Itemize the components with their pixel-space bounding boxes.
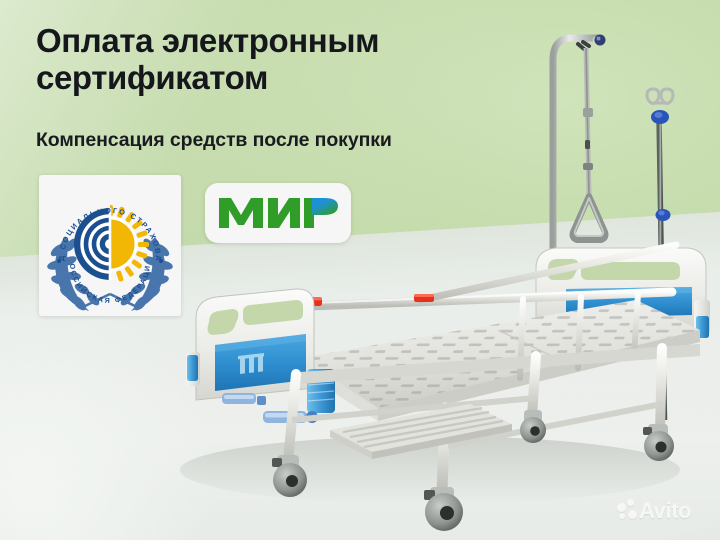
- avito-dot-1: [617, 503, 626, 512]
- avito-dot-4: [628, 510, 637, 519]
- page-subtitle: Компенсация средств после покупки: [36, 128, 536, 152]
- badge-mir-card: [205, 183, 351, 243]
- mir-letter-i: [268, 198, 300, 228]
- caster-rear-left: [520, 410, 546, 443]
- rail-release-lever-back: [414, 294, 434, 302]
- listing-image: Оплата электронным сертификатом Компенса…: [0, 0, 720, 540]
- page-title-line-1: Оплата электронным: [36, 22, 379, 59]
- avito-dot-2: [627, 499, 634, 506]
- avito-dot-3: [619, 513, 625, 519]
- crank-handle: [222, 393, 266, 405]
- avito-wordmark: Avito: [639, 498, 691, 524]
- page-title-line-2: сертификатом: [36, 59, 268, 96]
- avito-watermark: Avito: [617, 499, 709, 525]
- mir-logo-icon: [217, 194, 339, 232]
- page-title: Оплата электронным сертификатом: [36, 22, 506, 96]
- corner-bumper: [187, 355, 198, 381]
- badge-fss-card: ФОНД СОЦИАЛЬНОГО СТРАХОВАНИЯ РОССИЙСКАЯ …: [39, 175, 181, 316]
- mir-letter-m: [219, 198, 263, 228]
- footboard: [186, 289, 335, 423]
- caster-rear-right: [643, 424, 674, 461]
- fss-emblem-icon: ФОНД СОЦИАЛЬНОГО СТРАХОВАНИЯ РОССИЙСКАЯ …: [39, 175, 181, 316]
- footboard-glyph: [238, 353, 264, 374]
